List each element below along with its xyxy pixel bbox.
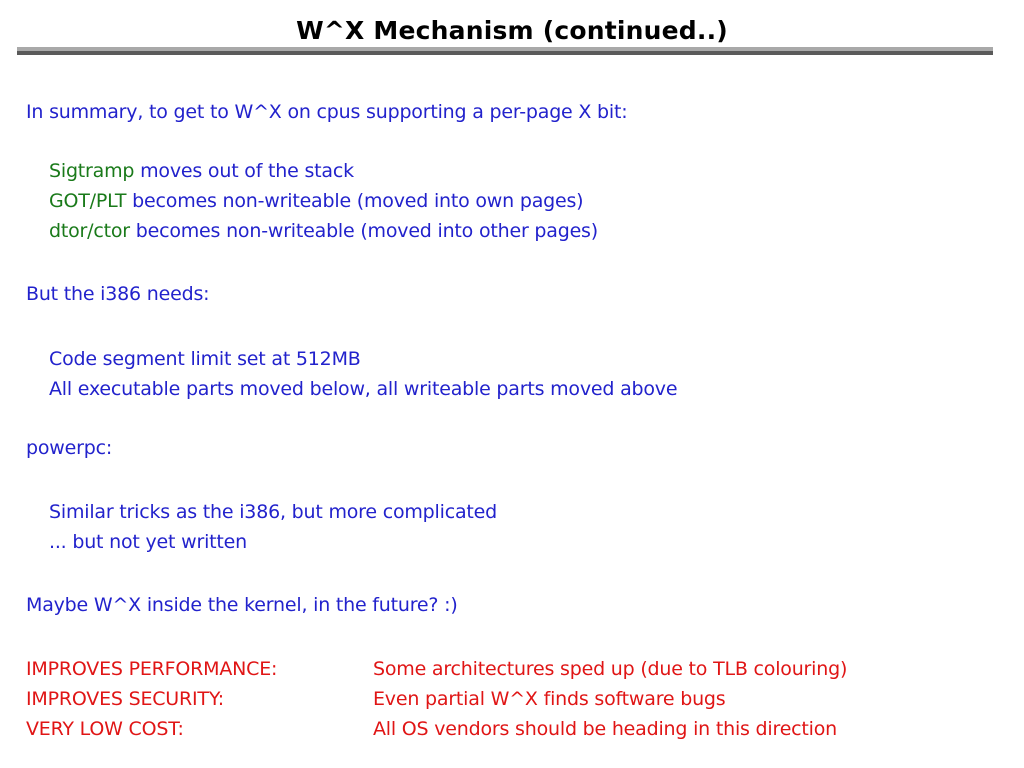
slide-canvas: { "slide": { "title": "W^X Mechanism (co… bbox=[0, 0, 1024, 768]
benefit-row-performance: IMPROVES PERFORMANCE:Some architectures … bbox=[26, 659, 986, 679]
summary-item-text: becomes non-writeable (moved into other … bbox=[130, 220, 598, 242]
title-divider bbox=[17, 47, 993, 55]
i386-item-code-segment-limit: Code segment limit set at 512MB bbox=[49, 349, 361, 369]
summary-item-term: dtor/ctor bbox=[49, 220, 130, 242]
summary-item-text: moves out of the stack bbox=[134, 160, 354, 182]
summary-item-term: GOT/PLT bbox=[49, 190, 126, 212]
benefit-detail: All OS vendors should be heading in this… bbox=[373, 719, 837, 739]
summary-item-sigtramp: Sigtramp moves out of the stack bbox=[49, 161, 354, 181]
benefit-row-cost: VERY LOW COST:All OS vendors should be h… bbox=[26, 719, 986, 739]
i386-heading: But the i386 needs: bbox=[26, 284, 209, 304]
benefit-label: VERY LOW COST: bbox=[26, 719, 373, 739]
benefit-detail: Some architectures sped up (due to TLB c… bbox=[373, 659, 847, 679]
summary-item-term: Sigtramp bbox=[49, 160, 134, 182]
page-title: W^X Mechanism (continued..) bbox=[0, 16, 1024, 45]
closing-remark: Maybe W^X inside the kernel, in the futu… bbox=[26, 595, 458, 615]
summary-item-gotplt: GOT/PLT becomes non-writeable (moved int… bbox=[49, 191, 583, 211]
summary-item-dtorctor: dtor/ctor becomes non-writeable (moved i… bbox=[49, 221, 598, 241]
i386-item-parts-moved: All executable parts moved below, all wr… bbox=[49, 379, 677, 399]
powerpc-item-not-yet-written: ... but not yet written bbox=[49, 532, 247, 552]
powerpc-item-similar-tricks: Similar tricks as the i386, but more com… bbox=[49, 502, 497, 522]
benefit-detail: Even partial W^X finds software bugs bbox=[373, 689, 726, 709]
benefit-label: IMPROVES PERFORMANCE: bbox=[26, 659, 373, 679]
summary-intro: In summary, to get to W^X on cpus suppor… bbox=[26, 102, 627, 122]
benefit-label: IMPROVES SECURITY: bbox=[26, 689, 373, 709]
summary-item-text: becomes non-writeable (moved into own pa… bbox=[126, 190, 583, 212]
divider-shadow bbox=[17, 51, 993, 55]
benefit-row-security: IMPROVES SECURITY:Even partial W^X finds… bbox=[26, 689, 986, 709]
powerpc-heading: powerpc: bbox=[26, 438, 112, 458]
